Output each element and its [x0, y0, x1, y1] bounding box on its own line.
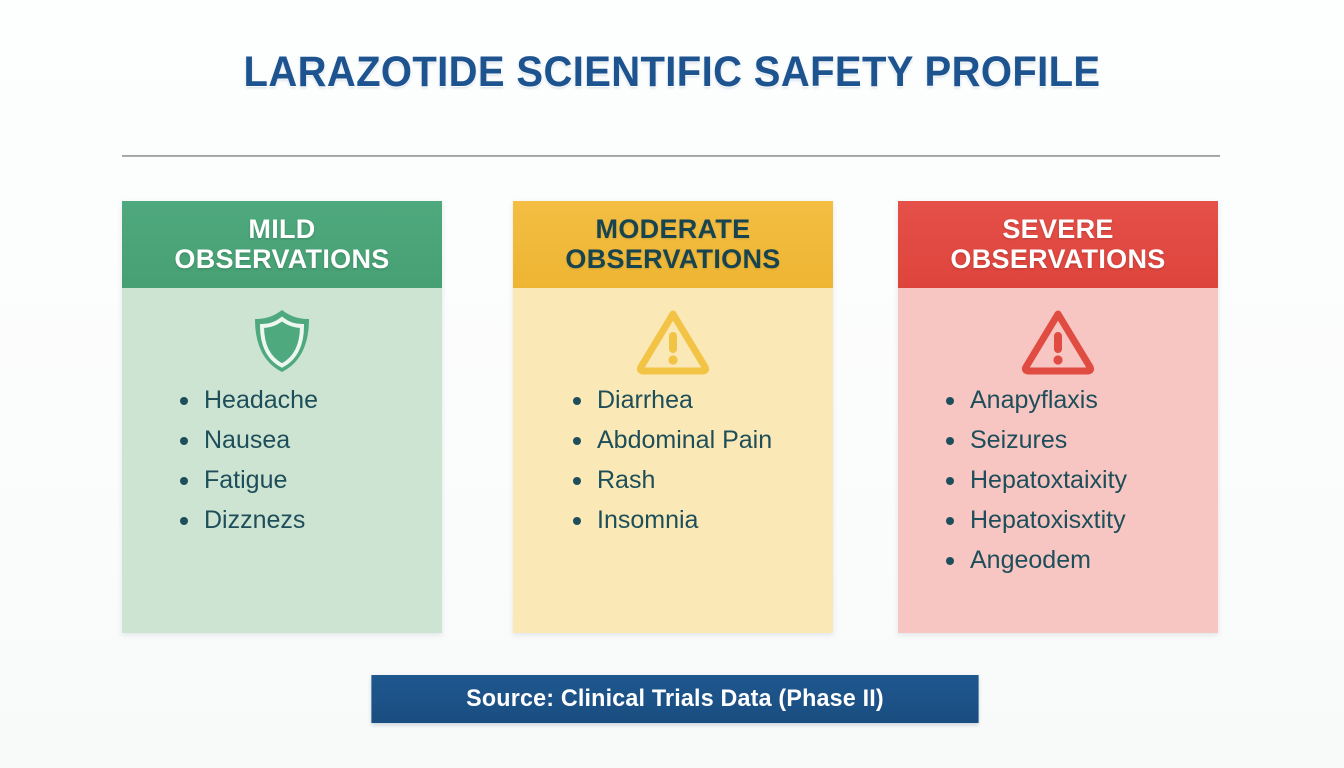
- list-item: Hepatoxisxtity: [944, 500, 1218, 540]
- card-header-mild-line2: OBSERVATIONS: [174, 245, 389, 275]
- card-header-severe-line1: SEVERE: [1002, 215, 1113, 245]
- list-item: Nausea: [178, 420, 442, 460]
- card-header-moderate-line1: MODERATE: [596, 215, 751, 245]
- page-title: LARAZOTIDE SCIENTIFIC SAFETY PROFILE: [47, 48, 1297, 97]
- card-header-moderate-line2: OBSERVATIONS: [565, 245, 780, 275]
- list-item: Anapyflaxis: [944, 380, 1218, 420]
- list-item: Rash: [571, 460, 833, 500]
- list-item: Seizures: [944, 420, 1218, 460]
- source-text: Source: Clinical Trials Data (Phase II): [466, 685, 884, 713]
- card-header-moderate: MODERATE OBSERVATIONS: [513, 201, 833, 288]
- symptom-list-moderate: Diarrhea Abdominal Pain Rash Insomnia: [513, 380, 833, 540]
- source-banner: Source: Clinical Trials Data (Phase II): [371, 675, 978, 723]
- list-item: Insomnia: [571, 500, 833, 540]
- severity-card-mild: MILD OBSERVATIONS Headache Nausea Fatigu…: [122, 201, 442, 633]
- infographic-page: LARAZOTIDE SCIENTIFIC SAFETY PROFILE MIL…: [0, 0, 1344, 768]
- severity-card-moderate: MODERATE OBSERVATIONS Diarrhea Abdominal…: [513, 201, 833, 633]
- header-divider: [122, 155, 1220, 157]
- severity-card-severe: SEVERE OBSERVATIONS Anapyflaxis Seizures…: [898, 201, 1218, 633]
- symptom-list-severe: Anapyflaxis Seizures Hepatoxtaixity Hepa…: [898, 380, 1218, 580]
- list-item: Fatigue: [178, 460, 442, 500]
- symptom-list-mild: Headache Nausea Fatigue Dizznezs: [122, 380, 442, 540]
- warning-triangle-icon: [1021, 302, 1095, 380]
- card-body-mild: Headache Nausea Fatigue Dizznezs: [122, 288, 442, 633]
- card-header-mild: MILD OBSERVATIONS: [122, 201, 442, 288]
- card-body-moderate: Diarrhea Abdominal Pain Rash Insomnia: [513, 288, 833, 633]
- list-item: Headache: [178, 380, 442, 420]
- list-item: Dizznezs: [178, 500, 442, 540]
- card-body-severe: Anapyflaxis Seizures Hepatoxtaixity Hepa…: [898, 288, 1218, 633]
- warning-triangle-icon: [636, 302, 710, 380]
- list-item: Diarrhea: [571, 380, 833, 420]
- card-header-severe-line2: OBSERVATIONS: [950, 245, 1165, 275]
- list-item: Hepatoxtaixity: [944, 460, 1218, 500]
- shield-icon: [250, 302, 314, 380]
- card-header-mild-line1: MILD: [248, 215, 315, 245]
- list-item: Abdominal Pain: [571, 420, 833, 460]
- card-header-severe: SEVERE OBSERVATIONS: [898, 201, 1218, 288]
- list-item: Angeodem: [944, 540, 1218, 580]
